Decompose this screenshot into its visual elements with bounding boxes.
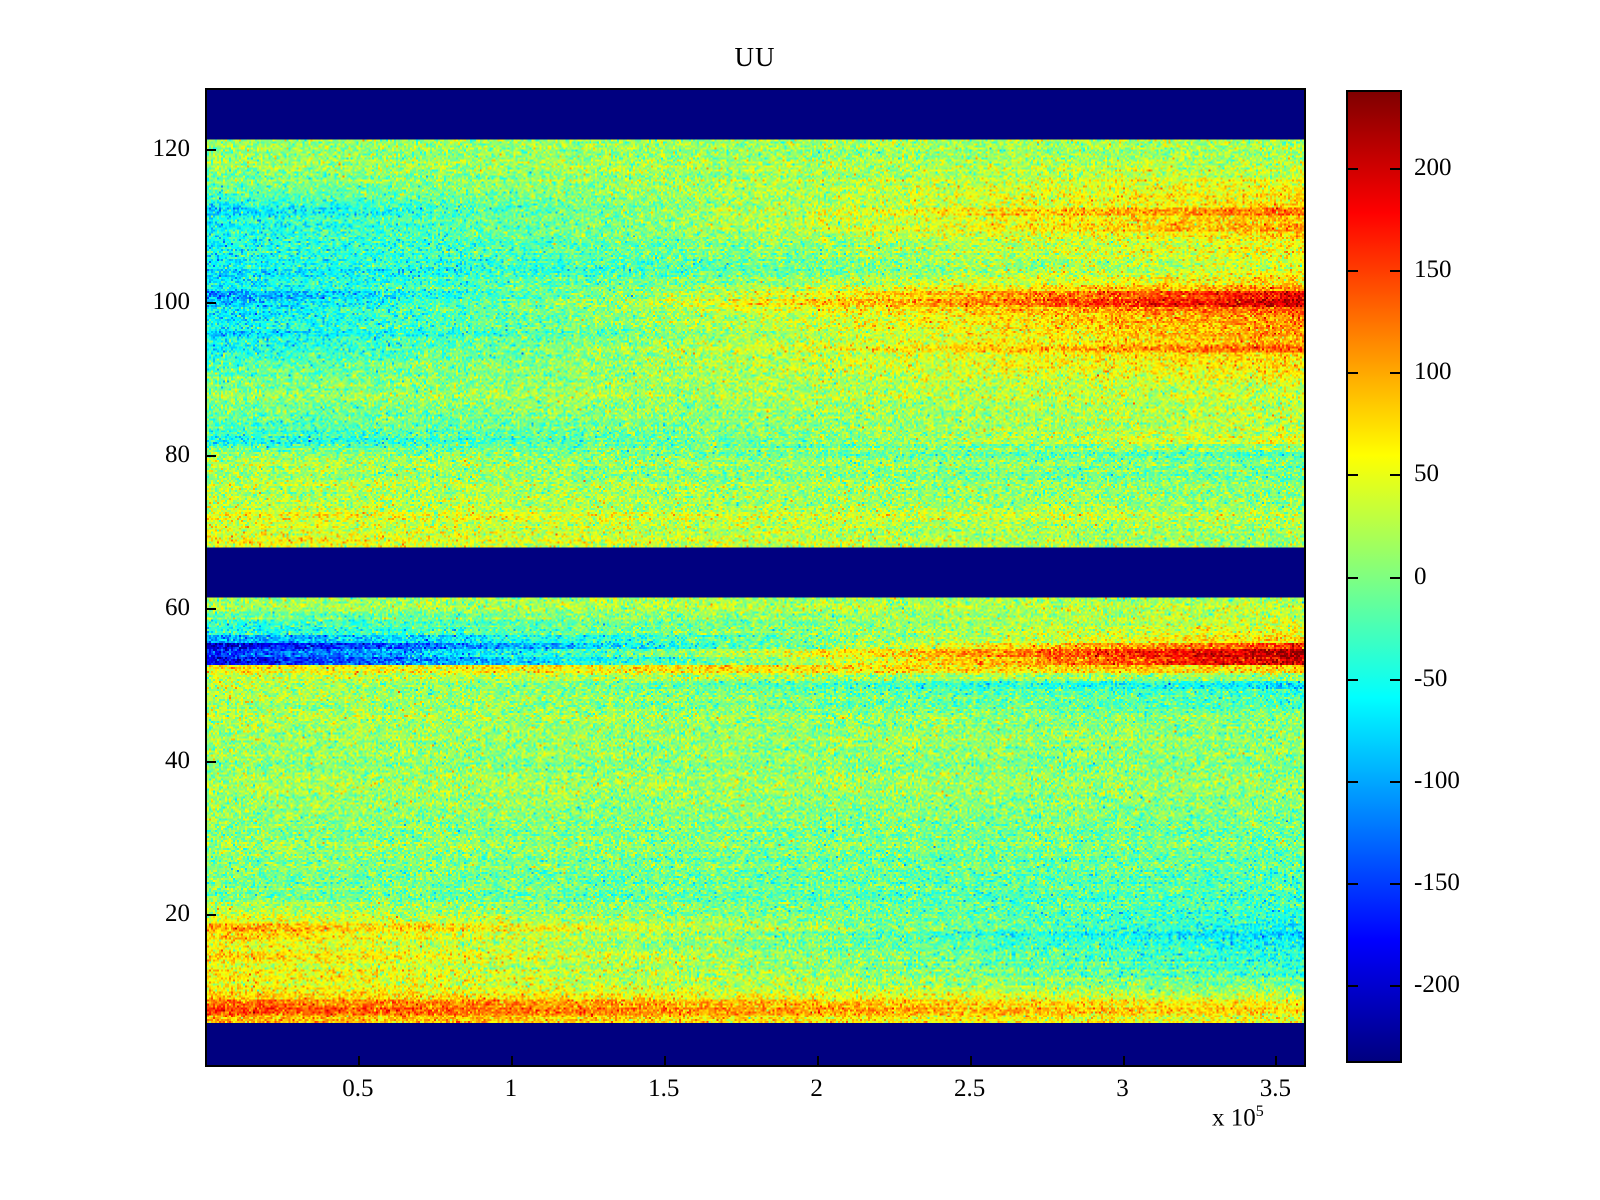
x-tick-mark — [358, 1056, 360, 1067]
y-tick-label: 80 — [100, 441, 190, 469]
colorbar-tick-mark — [1348, 679, 1358, 681]
colorbar-tick-mark — [1390, 883, 1400, 885]
colorbar-tick-label: -150 — [1414, 869, 1460, 897]
x-tick-mark — [1275, 1056, 1277, 1067]
colorbar-tick-mark — [1390, 781, 1400, 783]
x-tick-label: 2.5 — [954, 1075, 985, 1103]
y-tick-mark — [205, 149, 216, 151]
x-tick-label: 2 — [810, 1075, 823, 1103]
colorbar-tick-mark — [1348, 883, 1358, 885]
colorbar-tick-mark — [1390, 679, 1400, 681]
y-tick-mark — [205, 761, 216, 763]
y-tick-label: 100 — [100, 288, 190, 316]
colorbar-tick-label: 200 — [1414, 154, 1452, 182]
colorbar-tick-mark — [1348, 372, 1358, 374]
colorbar-tick-label: -50 — [1414, 665, 1447, 693]
colorbar-tick-mark — [1348, 985, 1358, 987]
x-tick-mark — [817, 1056, 819, 1067]
x-tick-mark — [664, 1056, 666, 1067]
x-tick-mark — [1123, 1056, 1125, 1067]
y-tick-mark — [205, 914, 216, 916]
colorbar-tick-label: 50 — [1414, 460, 1439, 488]
x-axis-exponent: x 105 — [1212, 1103, 1264, 1132]
heatmap-axes — [205, 88, 1306, 1067]
x-tick-label: 3 — [1116, 1075, 1129, 1103]
x-tick-mark — [511, 1056, 513, 1067]
colorbar-tick-label: 100 — [1414, 358, 1452, 386]
colorbar-tick-mark — [1348, 577, 1358, 579]
page-title: UU — [0, 42, 1510, 73]
y-tick-mark — [205, 608, 216, 610]
x-tick-label: 1.5 — [648, 1075, 679, 1103]
y-tick-label: 60 — [100, 594, 190, 622]
x-tick-label: 1 — [505, 1075, 518, 1103]
colorbar-tick-mark — [1390, 270, 1400, 272]
heatmap-image — [207, 90, 1304, 1065]
x-tick-label: 0.5 — [342, 1075, 373, 1103]
colorbar-tick-label: 150 — [1414, 256, 1452, 284]
figure-canvas: UU 204060801001200.511.522.533.520015010… — [0, 0, 1600, 1200]
y-tick-mark — [205, 455, 216, 457]
colorbar-tick-mark — [1390, 168, 1400, 170]
colorbar-tick-mark — [1390, 985, 1400, 987]
colorbar-tick-mark — [1348, 781, 1358, 783]
colorbar-tick-mark — [1348, 474, 1358, 476]
colorbar-tick-label: -100 — [1414, 767, 1460, 795]
x-tick-mark — [970, 1056, 972, 1067]
y-tick-label: 20 — [100, 900, 190, 928]
colorbar-tick-label: -200 — [1414, 971, 1460, 999]
y-tick-label: 120 — [100, 135, 190, 163]
y-tick-label: 40 — [100, 747, 190, 775]
colorbar-tick-mark — [1348, 270, 1358, 272]
colorbar-tick-mark — [1348, 168, 1358, 170]
x-exponent-text: x 10 — [1212, 1104, 1256, 1131]
colorbar-tick-mark — [1390, 372, 1400, 374]
x-tick-label: 3.5 — [1260, 1075, 1291, 1103]
y-tick-mark — [205, 302, 216, 304]
colorbar-tick-label: 0 — [1414, 563, 1427, 591]
colorbar-tick-mark — [1390, 577, 1400, 579]
colorbar-tick-mark — [1390, 474, 1400, 476]
x-exponent-power: 5 — [1256, 1103, 1264, 1120]
